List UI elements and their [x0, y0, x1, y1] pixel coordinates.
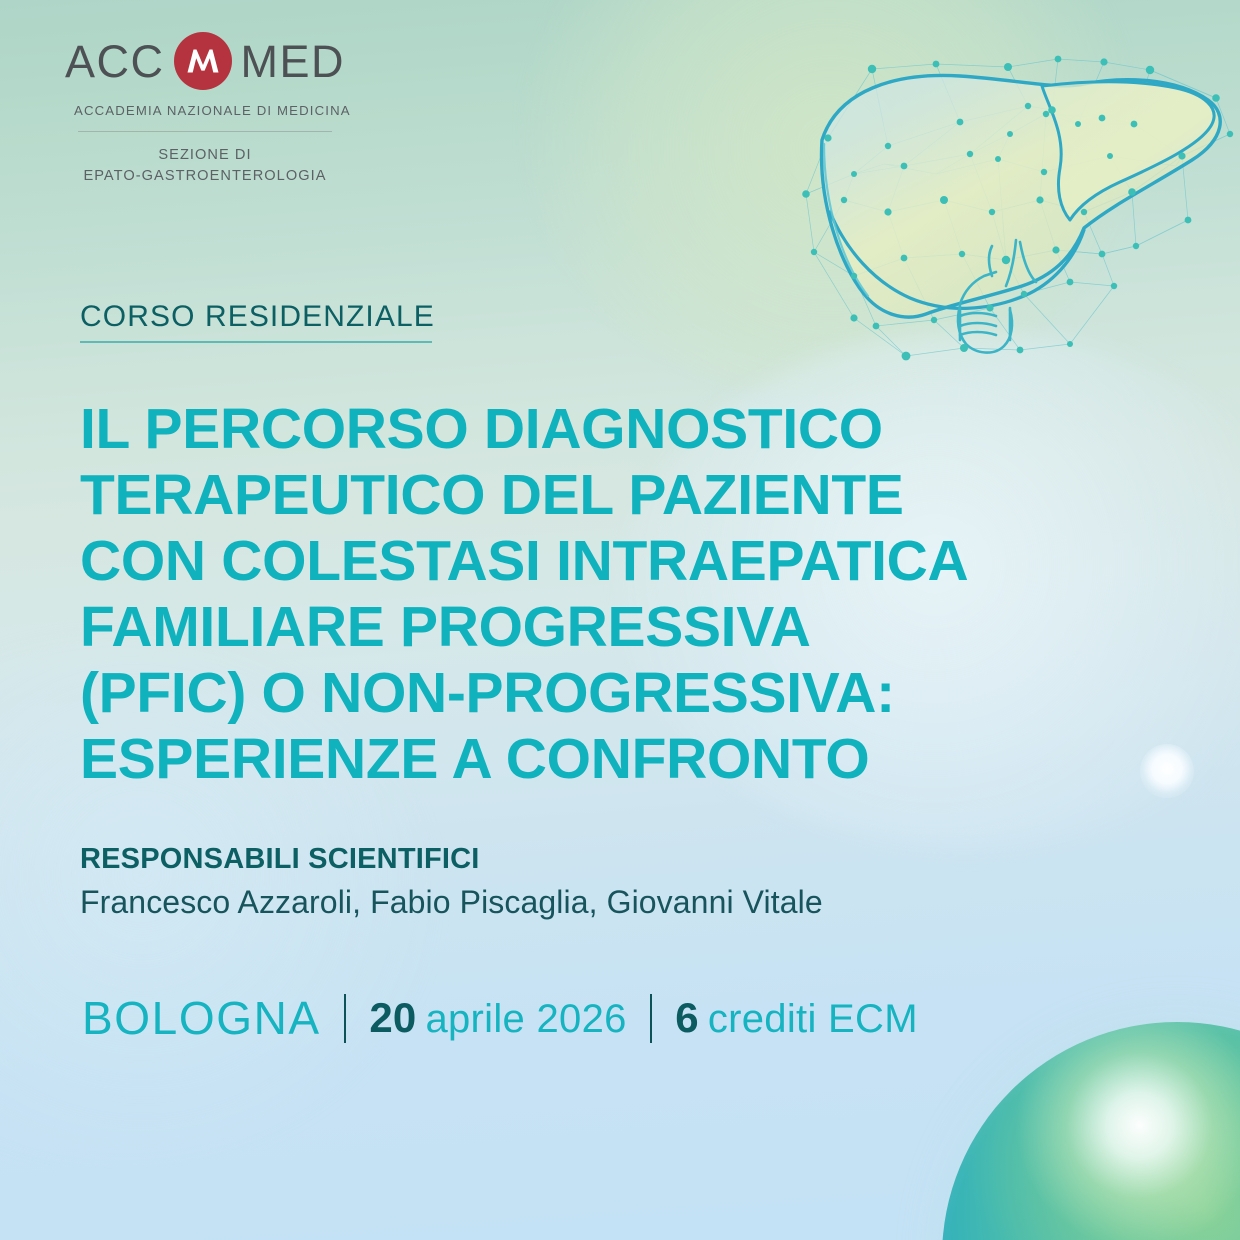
logo-word-med: MED [241, 39, 346, 84]
title-line: TERAPEUTICO DEL PAZIENTE [80, 462, 1090, 528]
decorative-glow-bubble-icon [1140, 744, 1194, 798]
ecm-credits-label: crediti ECM [708, 999, 918, 1039]
event-poster: ACC MED ACCADEMIA NAZIONALE DI MEDICINA … [0, 0, 1240, 1240]
title-line: CON COLESTASI INTRAEPATICA [80, 528, 1090, 594]
title-line: IL PERCORSO DIAGNOSTICO [80, 396, 1090, 462]
title-line: ESPERIENZE A CONFRONTO [80, 726, 1090, 792]
accmed-logo: ACC MED ACCADEMIA NAZIONALE DI MEDICINA … [74, 30, 336, 186]
scientific-directors: RESPONSABILI SCIENTIFICI Francesco Azzar… [80, 842, 1000, 924]
scientific-directors-names: Francesco Azzaroli, Fabio Piscaglia, Gio… [80, 882, 1000, 924]
logo-wordmark: ACC MED [74, 30, 336, 92]
accmed-m-monogram-icon [174, 32, 232, 90]
scientific-directors-heading: RESPONSABILI SCIENTIFICI [80, 842, 1000, 876]
event-date-month-year: aprile 2026 [425, 999, 626, 1039]
meta-separator [650, 994, 653, 1043]
logo-section-name: SEZIONE DI EPATO-GASTROENTEROLOGIA [74, 145, 336, 186]
title-line: (PFIC) O NON-PROGRESSIVA: [80, 660, 1090, 726]
liver-network-illustration-icon [784, 14, 1240, 386]
title-line: FAMILIARE PROGRESSIVA [80, 594, 1090, 660]
course-type-kicker: CORSO RESIDENZIALE [80, 300, 440, 343]
ecm-credits-number: 6 [675, 997, 699, 1039]
decorative-sphere-rim [942, 1022, 1240, 1240]
event-date: 20 aprile 2026 [369, 997, 626, 1039]
ecm-credits: 6 crediti ECM [675, 997, 918, 1039]
decorative-gradient-sphere-icon [942, 1022, 1240, 1240]
event-date-day: 20 [369, 997, 416, 1039]
page-title: IL PERCORSO DIAGNOSTICO TERAPEUTICO DEL … [80, 396, 1090, 792]
course-type-label: CORSO RESIDENZIALE [80, 300, 440, 333]
logo-divider [78, 131, 332, 132]
logo-section-line-1: SEZIONE DI [74, 145, 336, 166]
logo-section-line-2: EPATO-GASTROENTEROLOGIA [74, 166, 336, 187]
event-details-bar: BOLOGNA 20 aprile 2026 6 crediti ECM [82, 986, 918, 1050]
kicker-underline [80, 341, 432, 343]
meta-separator [344, 994, 347, 1043]
event-city: BOLOGNA [82, 995, 321, 1041]
logo-subtitle: ACCADEMIA NAZIONALE DI MEDICINA [74, 103, 336, 118]
logo-word-acc: ACC [65, 39, 165, 84]
